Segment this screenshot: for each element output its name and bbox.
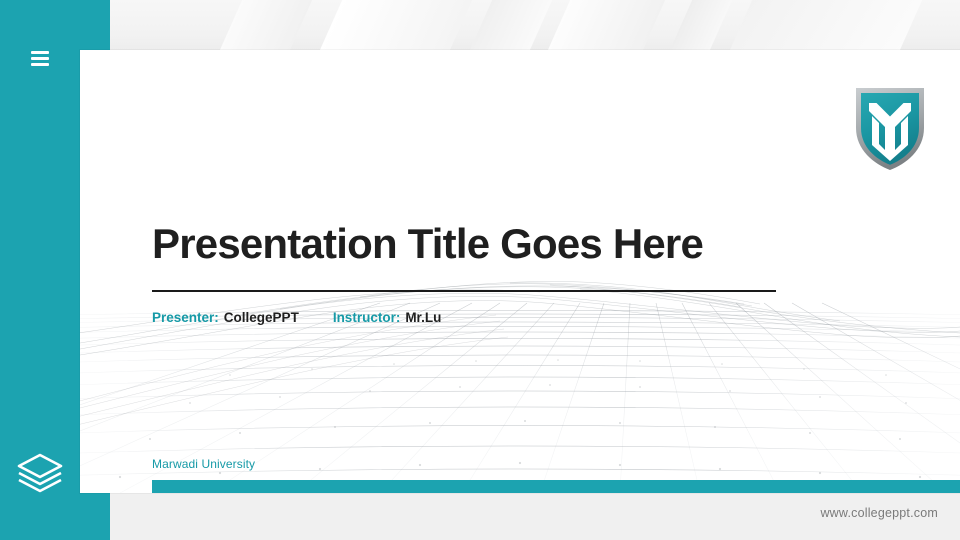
- university-logo: [850, 82, 930, 174]
- ribbon-shape: [198, 0, 330, 50]
- hamburger-menu-icon: [31, 63, 49, 66]
- instructor-label: Instructor:: [333, 310, 401, 325]
- ribbon-shape: [298, 0, 490, 50]
- presenter-meta-row: Presenter: CollegePPT Instructor: Mr.Lu: [152, 310, 892, 325]
- presenter-value: CollegePPT: [224, 310, 299, 325]
- watermark-url: www.collegeppt.com: [820, 506, 938, 520]
- ribbon-shape: [526, 0, 683, 50]
- decorative-ribbon-band: [110, 0, 960, 50]
- slide-accent-bar: [152, 480, 960, 493]
- ribbon-shape: [708, 0, 940, 50]
- title-divider: [152, 290, 776, 292]
- marwadi-university-shield-logo-icon: [850, 82, 930, 174]
- presentation-viewer: Presentation Title Goes Here Presenter: …: [0, 0, 960, 540]
- presenter-label: Presenter:: [152, 310, 219, 325]
- footer-organization: Marwadi University: [152, 457, 255, 471]
- hamburger-menu-button[interactable]: [27, 46, 53, 70]
- layers-stack-icon: [14, 447, 66, 499]
- title-block: Presentation Title Goes Here Presenter: …: [152, 222, 892, 325]
- hamburger-menu-icon: [31, 51, 49, 54]
- hamburger-menu-icon: [31, 57, 49, 60]
- slide-canvas[interactable]: Presentation Title Goes Here Presenter: …: [80, 50, 960, 493]
- instructor-value: Mr.Lu: [405, 310, 441, 325]
- slide-title: Presentation Title Goes Here: [152, 222, 892, 266]
- layers-stack-button[interactable]: [14, 447, 66, 499]
